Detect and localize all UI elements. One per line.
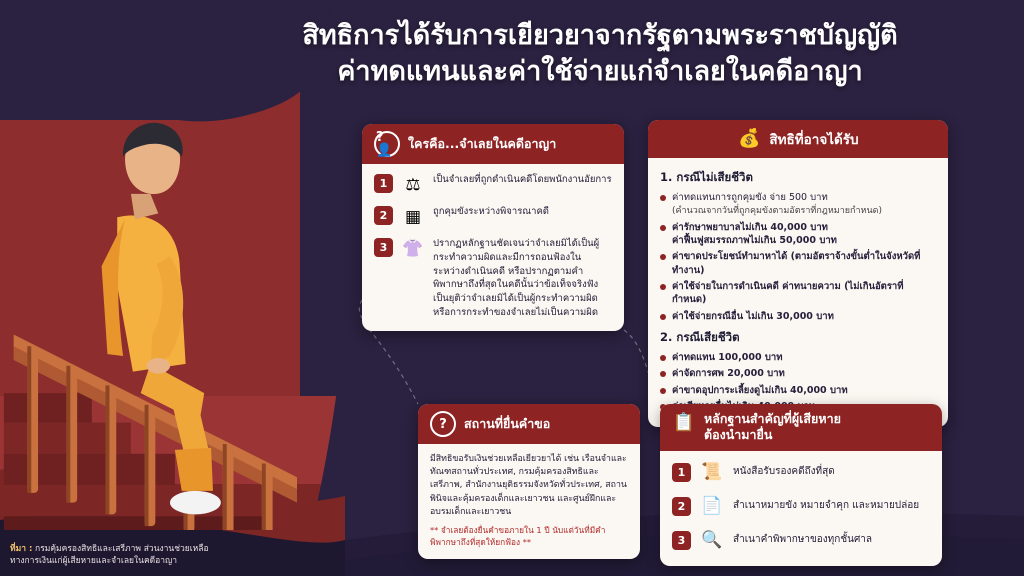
card-place-text: มีสิทธิขอรับเงินช่วยเหลือเยียวยาได้ เช่น… — [430, 453, 628, 519]
hand-money-icon: 💰 — [737, 127, 761, 151]
source-label: ที่มา : — [10, 544, 32, 554]
card-place-title: สถานที่ยื่นคำขอ — [464, 414, 550, 434]
item-number: 3 — [672, 531, 691, 550]
page-title-line2: ค่าทดแทนและค่าใช้จ่ายแก่จำเลยในคดีอาญา — [200, 54, 1000, 90]
card-rights-received: 💰 สิทธิที่อาจได้รับ 1. กรณีไม่เสียชีวิต … — [648, 120, 948, 427]
section-heading: 1. กรณีไม่เสียชีวิต — [660, 169, 936, 187]
card-place-body: มีสิทธิขอรับเงินช่วยเหลือเยียวยาได้ เช่น… — [418, 444, 640, 559]
bullet-item: ค่าทดแทนการถูกคุมขัง จ่าย 500 บาท (คำนวณ… — [660, 191, 936, 218]
list-item: 2 📄 สำเนาหมายขัง หมายจำคุก และหมายปล่อย — [672, 494, 930, 519]
item-number: 2 — [374, 206, 393, 225]
bullet-text: ค่าใช้จ่ายกรณีอื่น ไม่เกิน 30,000 บาท — [672, 310, 834, 323]
card-docs-title-line2: ต้องนำมายื่น — [704, 427, 841, 443]
magnifier-document-icon: 🔍 — [699, 527, 725, 553]
card-docs-body: 1 📜 หนังสือรับรองคดีถึงที่สุด 2 📄 สำเนาห… — [660, 451, 942, 566]
bullet-item: ค่ารักษาพยาบาลไม่เกิน 40,000 บาท ค่าฟื้น… — [660, 221, 936, 248]
bullet-item: ค่าขาดอุปการะเลี้ยงดูไม่เกิน 40,000 บาท — [660, 384, 936, 397]
list-item: 1 ⚖ เป็นจำเลยที่ถูกดำเนินคดีโดยพนักงานอั… — [374, 173, 612, 198]
document-list-icon: 📋 — [672, 411, 696, 435]
bullet-text: ค่าขาดประโยชน์ทำมาหาได้ (ตามอัตราจ้างขั้… — [672, 250, 936, 277]
judge-icon: 👚 — [400, 236, 426, 262]
card-docs-header: 📋 หลักฐานสำคัญที่ผู้เสียหาย ต้องนำมายื่น — [660, 404, 942, 451]
bullet-dot — [660, 314, 666, 320]
illustration-prisoner-on-stairs — [0, 100, 340, 530]
bullet-dot — [660, 284, 666, 290]
bullet-dot — [660, 254, 666, 260]
item-text: สำเนาหมายขัง หมายจำคุก และหมายปล่อย — [733, 499, 919, 513]
card-application-place: ? สถานที่ยื่นคำขอ มีสิทธิขอรับเงินช่วยเห… — [418, 404, 640, 559]
item-text: ปรากฏหลักฐานชัดเจนว่าจำเลยมิได้เป็นผู้กร… — [433, 237, 612, 320]
item-number: 2 — [672, 497, 691, 516]
item-text: สำเนาคำพิพากษาของทุกชั้นศาล — [733, 533, 872, 547]
bullet-text: ค่าทดแทน 100,000 บาท — [672, 351, 783, 364]
item-text: หนังสือรับรองคดีถึงที่สุด — [733, 465, 835, 479]
bullet-dot — [660, 225, 666, 231]
bullet-item: ค่าขาดประโยชน์ทำมาหาได้ (ตามอัตราจ้างขั้… — [660, 250, 936, 277]
person-question-icon: ?👤 — [374, 131, 400, 157]
item-number: 1 — [374, 174, 393, 193]
card-who-title: ใครคือ...จำเลยในคดีอาญา — [408, 134, 556, 154]
item-number: 1 — [672, 463, 691, 482]
item-number: 3 — [374, 238, 393, 257]
bullet-item: ค่าจัดการศพ 20,000 บาท — [660, 367, 936, 380]
bullet-dot — [660, 355, 666, 361]
bullet-dot — [660, 388, 666, 394]
section-heading: 2. กรณีเสียชีวิต — [660, 329, 936, 347]
list-item: 1 📜 หนังสือรับรองคดีถึงที่สุด — [672, 460, 930, 485]
certificate-icon: 📜 — [699, 459, 725, 485]
bullet-dot — [660, 195, 666, 201]
card-rights-title: สิทธิที่อาจได้รับ — [769, 128, 858, 150]
bullet-text: ค่ารักษาพยาบาลไม่เกิน 40,000 บาท — [672, 222, 828, 233]
bullet-text: ค่าใช้จ่ายในการดำเนินคดี ค่าทนายความ (ไม… — [672, 280, 936, 307]
document-icon: 📄 — [699, 493, 725, 519]
list-item: 2 ▦ ถูกคุมขังระหว่างพิจารณาคดี — [374, 205, 612, 230]
bullet-text: ค่าขาดอุปการะเลี้ยงดูไม่เกิน 40,000 บาท — [672, 384, 848, 397]
bullet-subtext: (คำนวณจากวันที่ถูกคุมขังตามอัตราที่กฎหมา… — [672, 206, 882, 216]
bullet-dot — [660, 371, 666, 377]
source-line2: ทางการเงินแก่ผู้เสียหายและจำเลยในคดีอาญา — [10, 556, 177, 566]
bullet-text: ค่าจัดการศพ 20,000 บาท — [672, 367, 785, 380]
card-who-is-defendant: ?👤 ใครคือ...จำเลยในคดีอาญา 1 ⚖ เป็นจำเลย… — [362, 124, 624, 331]
item-text: ถูกคุมขังระหว่างพิจารณาคดี — [433, 205, 549, 219]
card-rights-header: 💰 สิทธิที่อาจได้รับ — [648, 120, 948, 158]
page-title-line1: สิทธิการได้รับการเยียวยาจากรัฐตามพระราชบ… — [200, 18, 1000, 54]
card-place-header: ? สถานที่ยื่นคำขอ — [418, 404, 640, 444]
card-docs-title-line1: หลักฐานสำคัญที่ผู้เสียหาย — [704, 411, 841, 427]
source-credit: ที่มา : กรมคุ้มครองสิทธิและเสรีภาพ ส่วนง… — [10, 543, 340, 569]
card-required-documents: 📋 หลักฐานสำคัญที่ผู้เสียหาย ต้องนำมายื่น… — [660, 404, 942, 566]
page-title: สิทธิการได้รับการเยียวยาจากรัฐตามพระราชบ… — [200, 18, 1000, 91]
bullet-item: ค่าใช้จ่ายกรณีอื่น ไม่เกิน 30,000 บาท — [660, 310, 936, 323]
card-rights-body: 1. กรณีไม่เสียชีวิต ค่าทดแทนการถูกคุมขัง… — [648, 158, 948, 427]
list-item: 3 🔍 สำเนาคำพิพากษาของทุกชั้นศาล — [672, 528, 930, 553]
prison-bars-icon: ▦ — [400, 204, 426, 230]
item-text: เป็นจำเลยที่ถูกดำเนินคดีโดยพนักงานอัยการ — [433, 173, 612, 187]
gavel-icon: ⚖ — [400, 172, 426, 198]
card-who-body: 1 ⚖ เป็นจำเลยที่ถูกดำเนินคดีโดยพนักงานอั… — [362, 164, 624, 331]
list-item: 3 👚 ปรากฏหลักฐานชัดเจนว่าจำเลยมิได้เป็นผ… — [374, 237, 612, 320]
bullet-item: ค่าใช้จ่ายในการดำเนินคดี ค่าทนายความ (ไม… — [660, 280, 936, 307]
card-who-header: ?👤 ใครคือ...จำเลยในคดีอาญา — [362, 124, 624, 164]
source-line1: กรมคุ้มครองสิทธิและเสรีภาพ ส่วนงานช่วยเห… — [35, 544, 209, 554]
question-mark-icon: ? — [430, 411, 456, 437]
bullet-subtext: ค่าฟื้นฟูสมรรถภาพไม่เกิน 50,000 บาท — [672, 235, 837, 246]
infographic-stage: สิทธิการได้รับการเยียวยาจากรัฐตามพระราชบ… — [0, 0, 1024, 576]
card-place-note: ** จำเลยต้องยื่นคำขอภายใน 1 ปี นับแต่วัน… — [430, 524, 628, 548]
bullet-text: ค่าทดแทนการถูกคุมขัง จ่าย 500 บาท — [672, 192, 828, 203]
bullet-item: ค่าทดแทน 100,000 บาท — [660, 351, 936, 364]
